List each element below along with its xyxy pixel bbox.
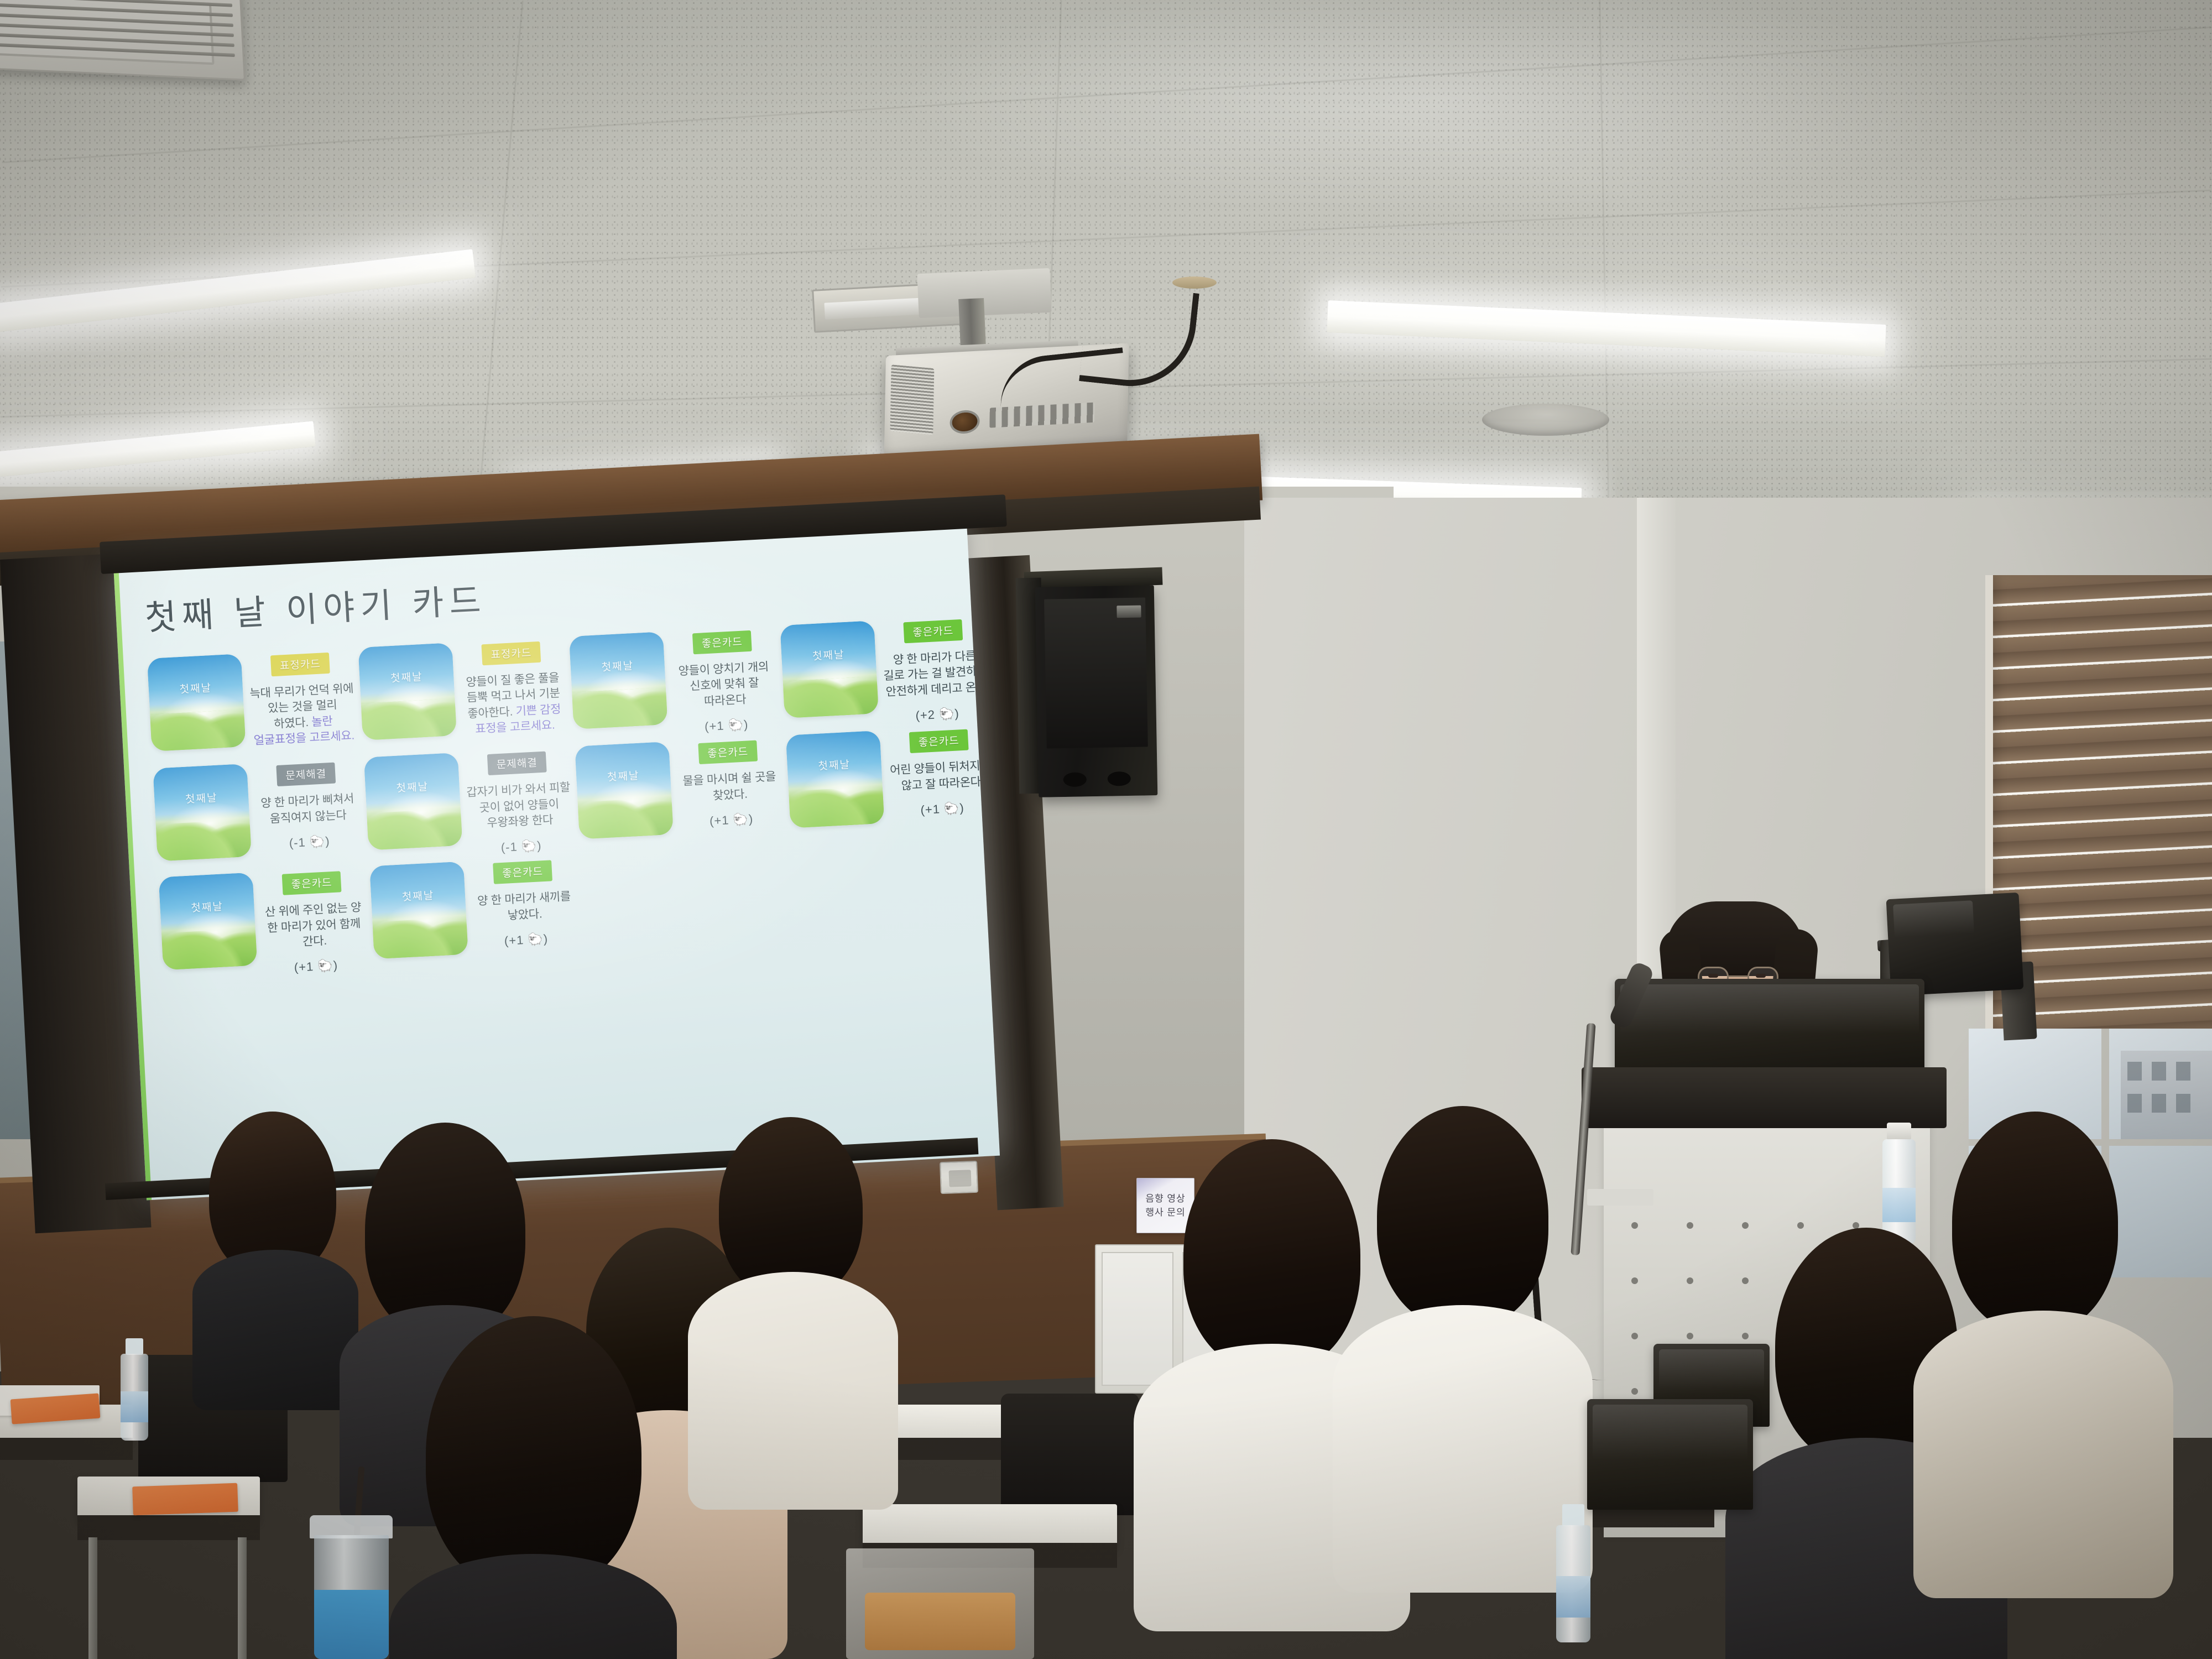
- speaker-brand-badge: [1117, 606, 1141, 618]
- hill-shape: [575, 797, 674, 839]
- card-sentence: 양 한 마리가 다른 길로 가는 걸 발견하고 안전하게 데리고 온다: [883, 650, 988, 698]
- card-thumb-label: 첫째날: [359, 667, 454, 687]
- card-body-text: 양들이 질 좋은 풀을 듬뿍 먹고 나서 기분 좋아한다. 기쁜 감정 표정을 …: [460, 670, 567, 738]
- laptop-screen-reflection: [1620, 984, 1919, 1034]
- card-points: (+1 🐑): [890, 799, 995, 819]
- card-points: (+1 🐑): [679, 810, 784, 830]
- card-sentence: 산 위에 주인 없는 양 한 마리가 있어 함께 간다.: [265, 901, 362, 948]
- water-bottle[interactable]: [1880, 1123, 1918, 1244]
- podium-laptop[interactable]: [1615, 979, 1924, 1078]
- card-thumbnail: 첫째날: [786, 731, 885, 828]
- audience-hair: [1952, 1112, 2118, 1333]
- card-text-column: 좋은카드 양들이 양치기 개의 신호에 맞춰 잘 따라온다 (+1 🐑): [663, 625, 786, 736]
- audience-torso: [688, 1272, 898, 1510]
- card-points: (+1 🐑): [674, 716, 779, 736]
- projector-mount-pole: [958, 298, 986, 348]
- card-sentence: 늑대 무리가 언덕 위에 있는 것을 멀리 하였다.: [249, 682, 354, 731]
- hill-shape: [153, 818, 252, 861]
- audience-chair: [1001, 1394, 1139, 1515]
- story-card[interactable]: 첫째날 좋은카드 양 한 마리가 다른 길로 가는 걸 발견하고 안전하게 데리…: [780, 614, 996, 730]
- card-points: (-1 🐑): [469, 837, 573, 857]
- wall-speaker: [1035, 585, 1158, 797]
- card-sentence: 양들이 양치기 개의 신호에 맞춰 잘 따라온다: [678, 660, 769, 708]
- story-card[interactable]: 첫째날 문제해결 양 한 마리가 삐쳐서 움직여지 않는다 (-1 🐑): [153, 758, 368, 862]
- card-badge: 좋은카드: [493, 860, 552, 884]
- card-body-text: 산 위에 주인 없는 양 한 마리가 있어 함께 간다.: [261, 900, 367, 952]
- card-text-column: 표정카드 늑대 무리가 언덕 위에 있는 것을 멀리 하였다. 놀란 얼굴표정을…: [241, 648, 364, 759]
- story-card[interactable]: 첫째날 표정카드 양들이 질 좋은 풀을 듬뿍 먹고 나서 기분 좋아한다. 기…: [358, 637, 574, 753]
- card-badge: 표정카드: [481, 641, 541, 665]
- ac-vent-slats: [0, 0, 236, 70]
- presentation-slide: 첫째 날 이야기 카드 첫째날 표정카드 늑대 무리가 언덕 위에 있는 것을 …: [113, 520, 1000, 1200]
- audience-member: [719, 1117, 863, 1427]
- audience-member: [1952, 1112, 2118, 1488]
- desk-leg: [88, 1537, 97, 1659]
- audience-hair: [1377, 1106, 1548, 1327]
- story-card[interactable]: 첫째날 좋은카드 어린 양들이 뒤처지지 않고 잘 따라온다 (+1 🐑): [786, 724, 1000, 828]
- card-thumbnail: 첫째날: [575, 742, 674, 839]
- card-sentence: 양 한 마리가 삐쳐서 움직여지 않는다: [260, 792, 354, 825]
- card-points: [464, 743, 568, 748]
- card-thumb-label: 첫째날: [570, 656, 665, 676]
- card-badge: 좋은카드: [698, 740, 758, 764]
- cabinet-door-left[interactable]: [1102, 1252, 1173, 1386]
- bottle-label: [1882, 1188, 1916, 1222]
- card-sentence: 어린 양들이 뒤처지지 않고 잘 따라온다: [890, 759, 991, 792]
- card-thumb-label: 첫째날: [154, 788, 249, 808]
- sign-line-2: 행사 문의: [1145, 1206, 1185, 1220]
- cable-ceiling-anchor: [1172, 276, 1217, 289]
- bottle-cap: [1887, 1123, 1911, 1140]
- sign-line-1: 음향 영상: [1145, 1192, 1185, 1206]
- cup-sleeve: [314, 1590, 389, 1659]
- cup-lid: [310, 1515, 393, 1538]
- card-thumbnail: 첫째날: [153, 764, 252, 862]
- audience-torso: [192, 1250, 358, 1410]
- card-text-column: 좋은카드 물을 마시며 쉴 곳을 찾았다. (+1 🐑): [669, 735, 790, 831]
- audience-torso: [1913, 1311, 2173, 1598]
- card-badge: 문제해결: [276, 763, 336, 786]
- laptop-screen-reflection: [1659, 1349, 1764, 1391]
- card-body-text: 양 한 마리가 삐쳐서 움직여지 않는다: [255, 791, 361, 828]
- card-thumb-label: 첫째날: [787, 755, 881, 775]
- speaker-port: [1063, 772, 1087, 787]
- podium-desktop-tray: [1582, 1067, 1947, 1128]
- ceiling-ac-unit: [0, 0, 246, 81]
- speaker-port: [1108, 771, 1131, 786]
- card-thumb-label: 첫째날: [371, 886, 465, 906]
- card-badge: 좋은카드: [692, 630, 752, 654]
- card-thumbnail: 첫째날: [569, 632, 668, 729]
- card-body-text: 어린 양들이 뒤처지지 않고 잘 따라온다: [888, 758, 994, 795]
- card-body-text: 양 한 마리가 새끼를 낳았다.: [472, 889, 577, 925]
- water-bottle[interactable]: [119, 1338, 150, 1441]
- story-card[interactable]: 첫째날 좋은카드 산 위에 주인 없는 양 한 마리가 있어 함께 간다. (+…: [159, 867, 375, 982]
- story-card[interactable]: 첫째날 좋은카드 물을 마시며 쉴 곳을 찾았다. (+1 🐑): [575, 735, 790, 839]
- card-points: (+2 🐑): [885, 705, 990, 725]
- speaker-grille: [1044, 597, 1148, 748]
- presenter-eye: [1708, 974, 1718, 978]
- hill-shape: [159, 927, 258, 970]
- wall-pillar: [1637, 498, 1676, 995]
- card-badge: 표정카드: [270, 653, 330, 676]
- ceiling-round-diffuser: [1482, 404, 1609, 436]
- card-points: (-1 🐑): [257, 832, 362, 852]
- orange-booklet[interactable]: [132, 1483, 238, 1516]
- monitor-screen-reflection: [1893, 900, 1974, 937]
- story-card[interactable]: 첫째날 좋은카드 양들이 양치기 개의 신호에 맞춰 잘 따라온다 (+1 🐑): [569, 625, 785, 741]
- hill-shape: [364, 808, 463, 851]
- card-sentence: 양 한 마리가 새끼를 낳았다.: [477, 890, 571, 922]
- card-thumb-label: 첫째날: [576, 766, 671, 786]
- card-sentence: 물을 마시며 쉴 곳을 찾았다.: [682, 770, 776, 802]
- audience-member: [426, 1316, 641, 1659]
- audience-torso: [389, 1554, 677, 1659]
- hill-shape: [780, 675, 879, 718]
- laptop-screen-reflection: [1593, 1405, 1747, 1460]
- snack-bag[interactable]: [846, 1548, 1034, 1659]
- projector-lens: [950, 410, 980, 435]
- audience-desk: [863, 1504, 1117, 1548]
- card-sentence: 갑자기 비가 와서 피할 곳이 없어 양들이 우왕좌왕 한다: [466, 781, 571, 830]
- card-text-column: 문제해결 갑자기 비가 와서 피할 곳이 없어 양들이 우왕좌왕 한다 (-1 …: [458, 747, 581, 857]
- card-thumbnail: 첫째날: [364, 753, 463, 851]
- card-thumb-label: 첫째날: [365, 777, 460, 797]
- card-badge: 좋은카드: [903, 619, 963, 643]
- hill-shape: [369, 916, 468, 959]
- card-badge: 문제해결: [487, 752, 547, 775]
- card-text-column: 표정카드 양들이 질 좋은 풀을 듬뿍 먹고 나서 기분 좋아한다. 기쁜 감정…: [452, 637, 575, 748]
- card-body-text: 늑대 무리가 언덕 위에 있는 것을 멀리 하였다. 놀란 얼굴표정을 고르세요…: [249, 681, 357, 749]
- audience-member: [1377, 1106, 1548, 1471]
- card-text-column: 좋은카드 산 위에 주인 없는 양 한 마리가 있어 함께 간다. (+1 🐑): [252, 867, 375, 977]
- story-card[interactable]: 첫째날 좋은카드 양 한 마리가 새끼를 낳았다. (+1 🐑): [369, 855, 585, 959]
- card-thumbnail: 첫째날: [358, 643, 457, 740]
- hill-shape: [147, 708, 246, 751]
- desk-edge: [0, 1438, 133, 1460]
- iced-drink-cup[interactable]: [310, 1515, 393, 1659]
- audience-hair: [426, 1316, 641, 1593]
- card-badge: 좋은카드: [909, 729, 969, 753]
- projection-screen: 첫째 날 이야기 카드 첫째날 표정카드 늑대 무리가 언덕 위에 있는 것을 …: [113, 520, 1000, 1200]
- card-body-text: 물을 마시며 쉴 곳을 찾았다.: [677, 769, 782, 806]
- card-thumbnail: 첫째날: [147, 654, 246, 752]
- card-thumbnail: 첫째날: [780, 620, 879, 718]
- lecture-hall-photo: 첫째 날 이야기 카드 첫째날 표정카드 늑대 무리가 언덕 위에 있는 것을 …: [0, 0, 2212, 1659]
- card-thumb-label: 첫째날: [148, 678, 243, 698]
- card-body-text: 갑자기 비가 와서 피할 곳이 없어 양들이 우왕좌왕 한다: [466, 780, 572, 833]
- story-card[interactable]: 첫째날 표정카드 늑대 무리가 언덕 위에 있는 것을 멀리 하였다. 놀란 얼…: [147, 648, 363, 764]
- card-thumb-label: 첫째날: [781, 645, 876, 665]
- audience-laptop[interactable]: [1587, 1399, 1753, 1510]
- desk-leg: [238, 1537, 247, 1659]
- card-points: [253, 754, 357, 759]
- card-badge: 좋은카드: [282, 872, 342, 895]
- projector-vent-grille: [890, 364, 935, 435]
- card-text-column: 좋은카드 양 한 마리가 새끼를 낳았다. (+1 🐑): [463, 855, 585, 951]
- card-body-text: 양 한 마리가 다른 길로 가는 걸 발견하고 안전하게 데리고 온다: [882, 648, 988, 701]
- card-points: (+1 🐑): [474, 930, 578, 950]
- snack-contents: [865, 1593, 1015, 1650]
- card-thumbnail: 첫째날: [369, 862, 468, 959]
- podium-side-shelf: [1587, 1189, 1653, 1206]
- presenter-eye: [1756, 974, 1766, 978]
- hill-shape: [786, 786, 885, 828]
- audience-hair: [1183, 1139, 1360, 1371]
- audience-member: [205, 1112, 343, 1344]
- card-thumb-label: 첫째날: [160, 897, 254, 917]
- water-bottle[interactable]: [1554, 1504, 1593, 1642]
- wall-outlet[interactable]: [940, 1161, 978, 1194]
- card-points: (+1 🐑): [264, 957, 368, 977]
- desk-edge: [77, 1515, 260, 1540]
- card-body-text: 양들이 양치기 개의 신호에 맞춰 잘 따라온다: [671, 659, 778, 712]
- hill-shape: [358, 697, 457, 740]
- outside-building: [2121, 1051, 2212, 1145]
- story-card[interactable]: 첫째날 문제해결 갑자기 비가 와서 피할 곳이 없어 양들이 우왕좌왕 한다 …: [364, 747, 580, 862]
- card-text-column: 문제해결 양 한 마리가 삐쳐서 움직여지 않는다 (-1 🐑): [247, 758, 368, 853]
- hill-shape: [569, 686, 668, 729]
- card-thumbnail: 첫째날: [159, 873, 258, 971]
